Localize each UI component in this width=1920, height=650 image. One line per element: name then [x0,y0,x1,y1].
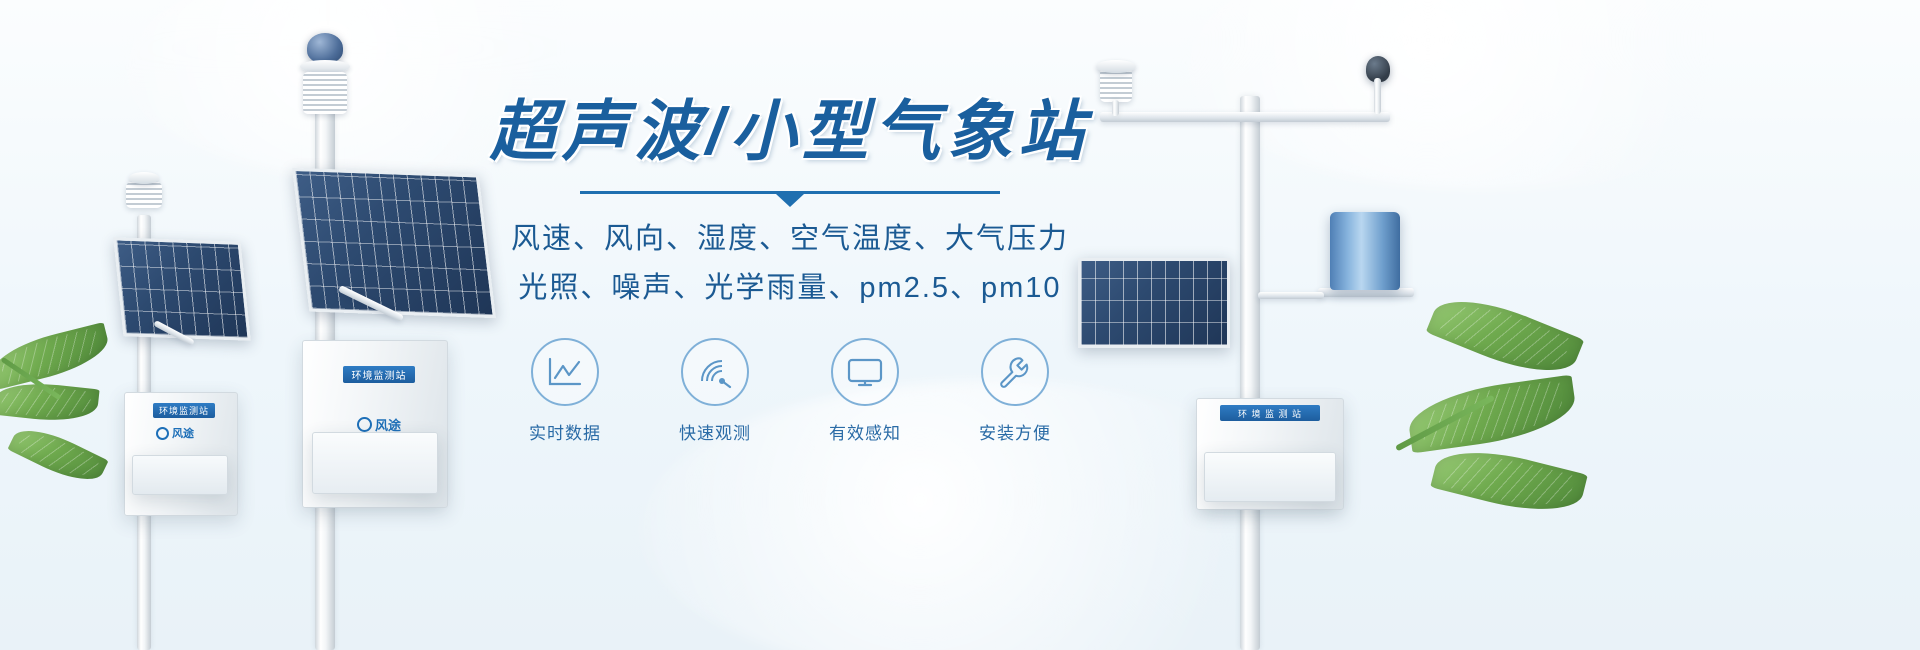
feature-label: 有效感知 [811,419,919,444]
banner-stage: 环境监测站 风途 环境监测站 风途 环 境 [0,0,1920,650]
sky-dome-sensor-icon [307,33,343,63]
monitor-icon [846,356,884,388]
leaf-blade [0,322,113,390]
leaf-blade [1430,439,1588,524]
radiation-shield-icon [126,182,162,208]
anemometer-stem [1374,78,1381,114]
line-chart-icon [546,356,584,388]
feature-list: 实时数据 快速观测 [440,338,1140,444]
leaf-blade [0,379,100,426]
feature-icon-circle [681,338,749,406]
radiation-shield-icon [303,72,347,114]
ultrasonic-wind-sensor-icon [1096,60,1136,73]
cross-arm [1100,112,1390,122]
feature-label: 快速观测 [661,419,769,444]
cabinet-label: 环境监测站 [343,366,415,383]
page-title: 超声波/小型气象站 [440,96,1140,167]
feature-label: 实时数据 [511,419,619,444]
feature-item-easy-installation[interactable]: 安装方便 [961,338,1069,444]
feature-item-fast-observation[interactable]: 快速观测 [661,338,769,444]
rain-gauge-icon [1330,212,1400,290]
subtitle-line-2: 光照、噪声、光学雨量、pm2.5、pm10 [440,265,1140,312]
brand-mark-icon [357,417,372,432]
banner-content: 超声波/小型气象站 风速、风向、湿度、空气温度、大气压力 光照、噪声、光学雨量、… [440,96,1140,576]
feature-item-effective-sensing[interactable]: 有效感知 [811,338,919,444]
feature-icon-circle [831,338,899,406]
cabinet-label: 环 境 监 测 站 [1220,405,1320,421]
wrench-icon [997,354,1033,390]
sensor-cap-icon [129,172,159,184]
feature-icon-circle [981,338,1049,406]
feature-label: 安装方便 [961,419,1069,444]
feature-item-realtime-data[interactable]: 实时数据 [511,338,619,444]
leaf-decoration-left [0,318,180,578]
radar-signal-icon [696,355,734,389]
leaf-blade [7,419,108,492]
leaf-decoration-right [1390,300,1610,600]
feature-icon-circle [531,338,599,406]
cabinet-door-panel [312,432,438,494]
down-triangle-icon [776,194,804,207]
cabinet-lower-tray [1204,452,1336,502]
leaf-blade [1426,284,1585,388]
mast-pole [1240,96,1260,650]
shelf-support-arm [1258,292,1324,299]
subtitle-line-1: 风速、风向、湿度、空气温度、大气压力 [440,216,1140,263]
title-divider [580,191,1000,194]
leaf-blade [1405,375,1579,454]
